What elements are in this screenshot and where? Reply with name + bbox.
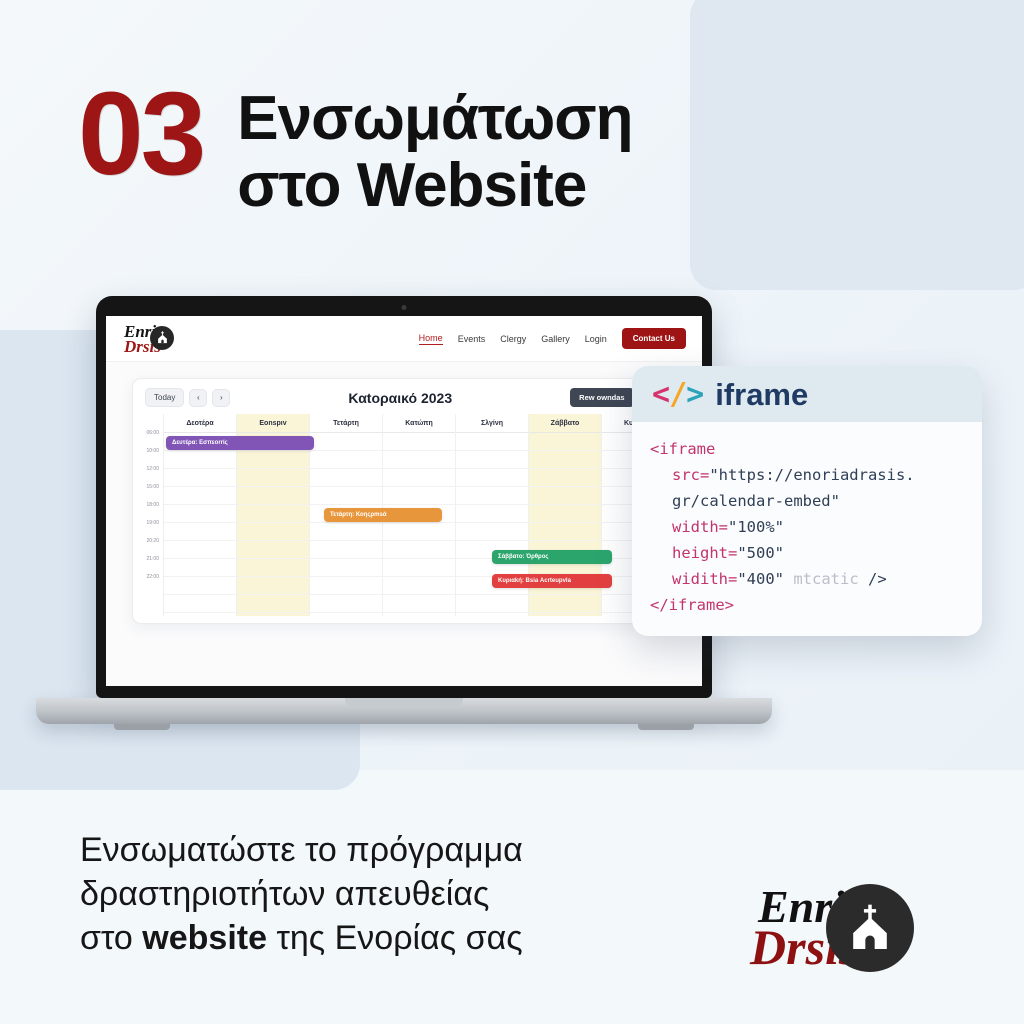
nav-link-home[interactable]: Home [419,333,443,345]
calendar-time-label: 19:00 [133,520,163,538]
calendar-widget: Today ‹ › Καtοραικό 2023 Rew owndas ••• … [132,378,676,624]
iframe-code-block[interactable]: <iframe src="https://enoriadrasis. gr/ca… [632,422,982,636]
calendar-day-header: Δεοτέρα [164,414,236,433]
calendar-slot[interactable] [310,469,382,487]
code-token-value-height: "500" [737,544,784,562]
calendar-slot[interactable] [529,451,601,469]
caption-line-3: στο website της Ενορίας σας [80,916,680,960]
calendar-view-button[interactable]: Rew owndas [570,388,633,407]
calendar-slot[interactable] [456,487,528,505]
iframe-card-title: iframe [715,379,808,410]
iframe-card-header: </> iframe [632,366,982,422]
calendar-event[interactable]: Δευτέρα: Εσπεοrrίς [166,436,314,450]
calendar-slot[interactable] [529,595,601,613]
page-title: Ενσωμάτωση στο Website [237,78,632,220]
calendar-grid: 06:00 10:00 12:00 15:00 18:00 19:00 20:2… [133,414,675,616]
calendar-slot[interactable] [529,523,601,541]
calendar-slot[interactable] [237,487,309,505]
code-token-attr-height: height= [672,544,737,562]
calendar-slot[interactable] [237,541,309,559]
code-token-attr-src: src= [672,466,709,484]
calendar-slot[interactable] [383,469,455,487]
site-nav-links: Home Events Clergy Gallery Login Contact… [419,328,686,349]
calendar-slot[interactable] [456,595,528,613]
calendar-time-label: 18:00 [133,502,163,520]
chevron-left-icon[interactable]: ‹ [189,389,207,407]
calendar-slot[interactable] [456,505,528,523]
code-token-value-src-part1: "https://enoriadrasis. [709,466,914,484]
calendar-time-label: 10:00 [133,448,163,466]
chevron-right-glyph: > [686,377,703,412]
caption-line-3-c: της Ενορίας σας [267,919,523,957]
caption-line-3-emphasis: website [142,919,267,957]
site-logo[interactable]: Enria Drsis [124,323,232,355]
calendar-slot[interactable] [164,487,236,505]
calendar-slot[interactable] [456,451,528,469]
code-token-tag-close: </iframe> [650,596,734,614]
nav-link-events[interactable]: Events [458,334,486,344]
calendar-slot[interactable] [164,523,236,541]
code-token-tag-open: <iframe [650,440,715,458]
headline-step-number: 03 [78,78,203,190]
calendar-event[interactable]: Κυριαkή: Bsia Αcrteupvla [492,574,612,588]
caption: Ενσωματώστε το πρόγραμμα δραστηριοτήτων … [80,828,680,961]
calendar-slot[interactable] [529,433,601,451]
code-line-5: height="500" [650,540,964,566]
code-token-value-widith: "400" [737,570,784,588]
calendar-title: Καtοραικό 2023 [230,390,570,406]
calendar-slot[interactable] [164,451,236,469]
headline: 03 Ενσωμάτωση στο Website [78,78,958,220]
church-icon [826,884,914,972]
laptop-notch [345,698,463,707]
calendar-time-label: 12:00 [133,466,163,484]
calendar-slot[interactable] [529,487,601,505]
nav-link-clergy[interactable]: Clergy [500,334,526,344]
nav-link-gallery[interactable]: Gallery [541,334,570,344]
calendar-toolbar: Today ‹ › Καtοραικό 2023 Rew owndas ••• [133,379,675,414]
calendar-slot[interactable] [529,469,601,487]
calendar-slot[interactable] [164,577,236,595]
calendar-slot[interactable] [164,505,236,523]
calendar-slot[interactable] [383,541,455,559]
calendar-slot[interactable] [383,433,455,451]
calendar-slot[interactable] [237,505,309,523]
code-line-7: </iframe> [650,592,964,618]
calendar-slot[interactable] [310,487,382,505]
calendar-day-header: Σλγίνη [456,414,528,433]
church-icon [150,326,174,350]
calendar-slot[interactable] [383,559,455,577]
calendar-slot[interactable] [310,595,382,613]
laptop-foot [638,724,694,730]
calendar-day-header: Εonspιv [237,414,309,433]
calendar-slot[interactable] [383,577,455,595]
chevron-right-icon[interactable]: › [212,389,230,407]
calendar-slot[interactable] [383,595,455,613]
code-token-attr-widith: widith= [672,570,737,588]
calendar-day-header: Κατώπη [383,414,455,433]
calendar-time-label: 21:00 [133,556,163,574]
laptop-screen: Enria Drsis Home Events [106,316,702,686]
calendar-today-button[interactable]: Today [145,388,184,407]
calendar-event[interactable]: Σάββατο: Όρθρος [492,550,612,564]
calendar-slot[interactable] [310,541,382,559]
calendar-slot[interactable] [456,523,528,541]
calendar-slot[interactable] [237,469,309,487]
calendar-time-label: 20:20 [133,538,163,556]
calendar-time-label: 06:00 [133,430,163,448]
calendar-slot[interactable] [310,433,382,451]
calendar-slot[interactable] [310,523,382,541]
calendar-slot[interactable] [456,433,528,451]
calendar-time-label: 15:00 [133,484,163,502]
calendar-columns: Δεοτέρα Εonspιv Τετάρτη [163,414,675,616]
iframe-code-card: </> iframe <iframe src="https://enoriadr… [632,366,982,636]
laptop-mockup: Enria Drsis Home Events [96,296,712,724]
calendar-slot[interactable] [310,577,382,595]
contact-us-button[interactable]: Contact Us [622,328,686,349]
code-token-attr-width: width= [672,518,728,536]
chevron-left-glyph: < [652,377,669,412]
calendar-slot[interactable] [456,469,528,487]
code-line-4: width="100%" [650,514,964,540]
calendar-slot[interactable] [164,469,236,487]
calendar-slot[interactable] [237,577,309,595]
caption-line-2: δραστηριοτήτων απευθείας [80,872,680,916]
nav-link-login[interactable]: Login [585,334,607,344]
code-brackets-icon: </> [652,380,703,410]
code-line-1: <iframe [650,436,964,462]
code-token-extra: mtcatic [793,570,858,588]
headline-line-1: Ενσωμάτωση [237,84,632,153]
code-line-3: gr/calendar-embed" [650,488,964,514]
brand-logo: Enria Drsis [748,876,996,976]
webcam-icon [402,305,407,310]
calendar-day-header: Ζάββατο [529,414,601,433]
calendar-time-label: 22:00 [133,574,163,592]
headline-line-2: στο Website [237,153,632,220]
code-line-2: src="https://enoriadrasis. [650,462,964,488]
calendar-day-header: Τετάρτη [310,414,382,433]
slash-glyph: / [669,377,686,412]
calendar-slot[interactable] [310,451,382,469]
code-token-selfclose: /> [868,570,887,588]
calendar-slot[interactable] [310,559,382,577]
code-line-6: widith="400" mtcatic /> [650,566,964,592]
calendar-event[interactable]: Τετάρτη: Κοηςρmsά [324,508,442,522]
laptop-lid: Enria Drsis Home Events [96,296,712,698]
calendar-slot[interactable] [164,559,236,577]
caption-line-3-a: στο [80,919,142,957]
laptop-base [36,698,772,724]
calendar-slot[interactable] [237,523,309,541]
calendar-slot[interactable] [383,451,455,469]
caption-line-1: Ενσωματώστε το πρόγραμμα [80,828,680,872]
code-token-value-src-part2: gr/calendar-embed" [672,492,840,510]
calendar-slot[interactable] [164,595,236,613]
calendar-slot[interactable] [529,505,601,523]
calendar-slot[interactable] [237,451,309,469]
calendar-slot[interactable] [383,487,455,505]
calendar-slot[interactable] [164,541,236,559]
laptop-foot [114,724,170,730]
site-content: Today ‹ › Καtοραικό 2023 Rew owndas ••• … [106,362,702,686]
calendar-slot[interactable] [237,559,309,577]
site-navbar: Enria Drsis Home Events [106,316,702,362]
calendar-slot[interactable] [383,523,455,541]
code-token-value-width: "100%" [728,518,784,536]
calendar-time-axis: 06:00 10:00 12:00 15:00 18:00 19:00 20:2… [133,414,163,616]
calendar-slot[interactable] [237,595,309,613]
